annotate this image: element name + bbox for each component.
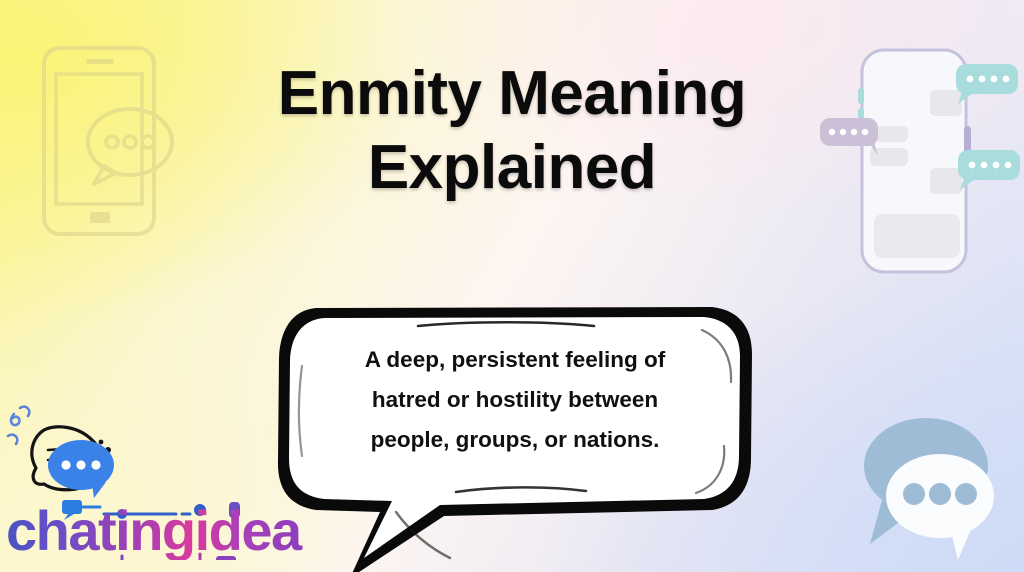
logo-wordmark: chatingidea	[6, 499, 303, 560]
brand-logo[interactable]: chatingidea	[4, 392, 316, 560]
chat-bubble-teal-bottom	[958, 150, 1020, 190]
chat-bubble-icon	[88, 109, 172, 184]
chat-bubble-front	[886, 454, 994, 560]
smartphone-chat-illustration	[818, 42, 1024, 280]
phone-outline-icon	[38, 42, 178, 240]
definition-line-2: hatred or hostility between	[318, 380, 712, 420]
poster-canvas: Enmity Meaning Explained A deep, persist…	[0, 0, 1024, 572]
chat-bubble-teal-top	[956, 64, 1018, 104]
definition-line-3: people, groups, or nations.	[318, 420, 712, 460]
definition-text: A deep, persistent feeling of hatred or …	[318, 340, 712, 460]
definition-line-1: A deep, persistent feeling of	[318, 340, 712, 380]
sketch-squiggle-icon	[8, 407, 29, 444]
definition-speech-bubble: A deep, persistent feeling of hatred or …	[272, 296, 758, 572]
double-chat-bubble-icon	[848, 404, 1016, 572]
